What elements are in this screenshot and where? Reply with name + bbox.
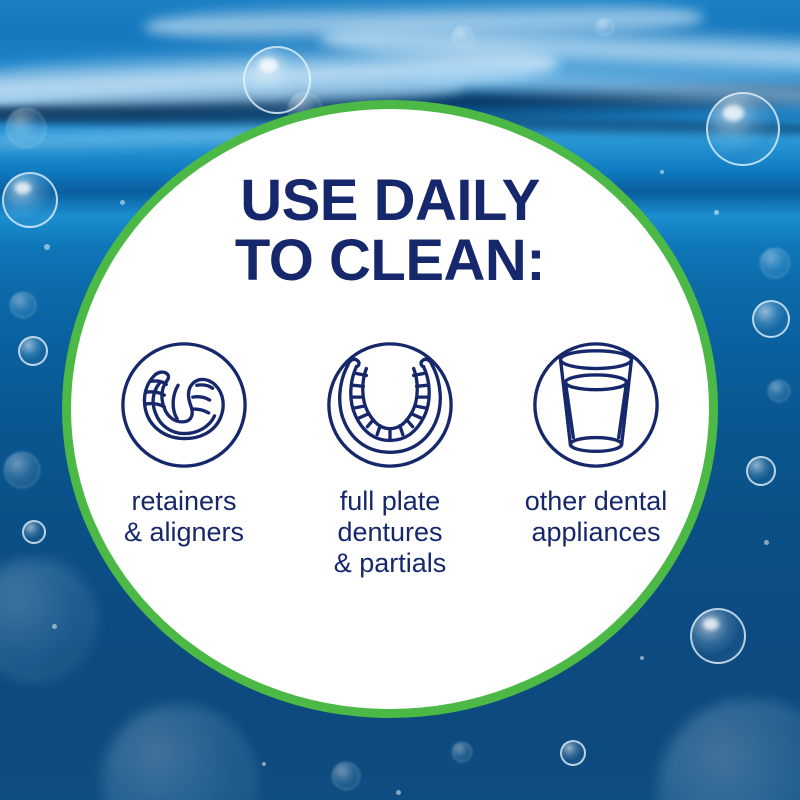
bubble-icon: [706, 92, 780, 166]
list-item: full plate dentures & partials: [297, 336, 483, 580]
full-plate-denture-icon: [321, 336, 459, 474]
bubble-speck: [396, 790, 401, 795]
bubble-speck: [660, 170, 664, 174]
content-circle-panel: USE DAILY TO CLEAN:: [62, 100, 718, 718]
poster-canvas: USE DAILY TO CLEAN:: [0, 0, 800, 800]
bubble-icon: [332, 762, 360, 790]
page-title: USE DAILY TO CLEAN:: [235, 109, 545, 292]
bubble-icon: [4, 452, 40, 488]
bubble-speck: [714, 210, 719, 215]
water-glass-icon: [527, 336, 665, 474]
bubble-speck: [262, 762, 266, 766]
bubble-icon: [760, 248, 790, 278]
bubble-icon: [452, 742, 472, 762]
retainer-aligner-icon: [115, 336, 253, 474]
bubble-icon: [452, 26, 474, 48]
list-item-label: full plate dentures & partials: [334, 486, 447, 580]
bubble-speck: [52, 624, 57, 629]
bubble-icon: [2, 172, 58, 228]
bubble-icon: [10, 292, 36, 318]
list-item: retainers & aligners: [91, 336, 277, 549]
list-item: other dental appliances: [503, 336, 689, 549]
bubble-speck: [44, 244, 50, 250]
bubble-icon: [752, 300, 790, 338]
bubble-speck: [764, 540, 769, 545]
bubble-icon: [690, 608, 746, 664]
bubble-icon: [22, 520, 46, 544]
bubble-icon: [768, 380, 790, 402]
bubble-icon: [6, 108, 46, 148]
list-item-label: other dental appliances: [525, 486, 668, 549]
icon-list: retainers & aligners: [71, 336, 709, 580]
bubble-icon: [560, 740, 586, 766]
bubble-icon: [596, 18, 614, 36]
bubble-icon: [746, 456, 776, 486]
bubble-speck: [120, 200, 125, 205]
bubble-speck: [640, 656, 644, 660]
list-item-label: retainers & aligners: [124, 486, 244, 549]
bubble-icon: [18, 336, 48, 366]
